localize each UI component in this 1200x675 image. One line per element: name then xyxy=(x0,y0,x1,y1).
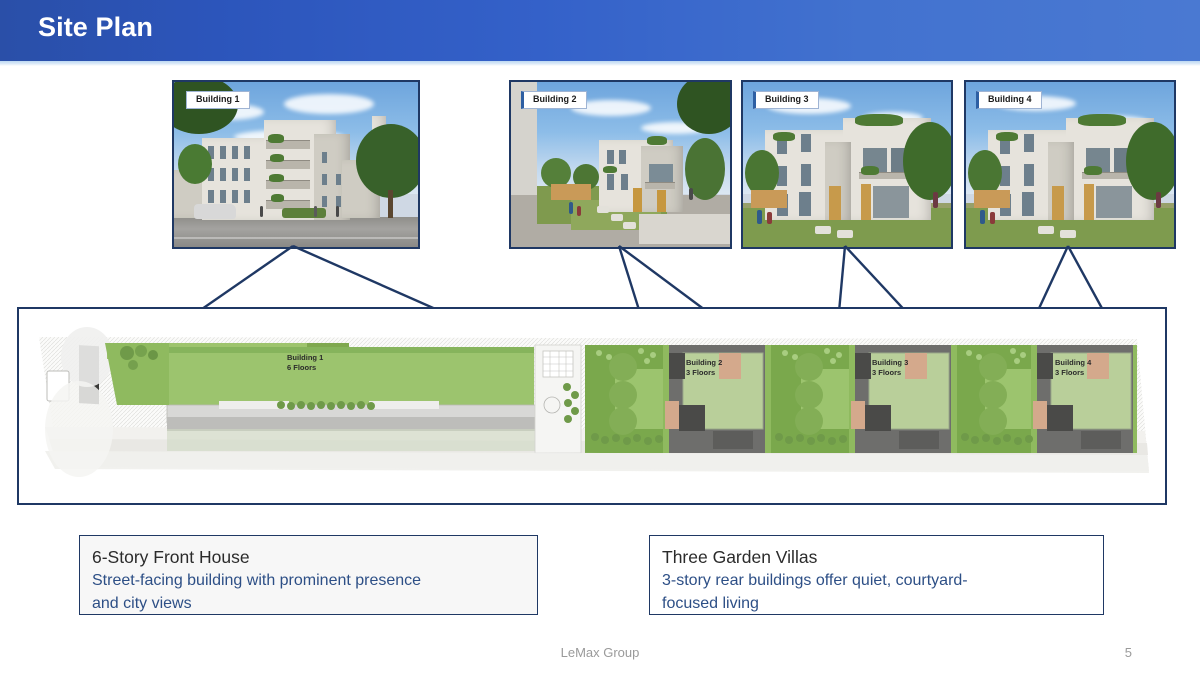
stepping-stone xyxy=(1038,226,1054,234)
thumbnail-label-building-3: Building 3 xyxy=(753,91,819,109)
plan-tree xyxy=(979,407,1007,435)
window xyxy=(232,146,238,159)
villa-4-terrace xyxy=(1033,401,1047,429)
plan-label-name: Building 1 xyxy=(287,353,323,362)
villa-2-shaft xyxy=(669,353,685,379)
thumbnail-label-building-1: Building 1 xyxy=(186,91,250,109)
thumbnail-label-building-4: Building 4 xyxy=(976,91,1042,109)
slide-header-bar xyxy=(0,0,1200,61)
plan-label-building-4: Building 4 3 Floors xyxy=(1055,358,1091,377)
plan-tree xyxy=(795,407,823,435)
plan-tree xyxy=(795,381,823,409)
plan-label-building-1: Building 1 6 Floors xyxy=(287,353,323,372)
plan-tree xyxy=(120,346,134,360)
entrance-door xyxy=(1084,184,1094,220)
balcony-plant xyxy=(861,166,879,175)
window xyxy=(873,186,909,218)
plan-label-name: Building 4 xyxy=(1055,358,1091,367)
thumbnail-building-2[interactable]: Building 2 xyxy=(509,80,732,249)
tree-trunk xyxy=(388,190,393,218)
villa-2-base xyxy=(713,431,753,449)
entrance-door xyxy=(861,184,871,220)
parked-car xyxy=(194,204,236,219)
window xyxy=(801,134,811,152)
street xyxy=(174,217,418,247)
entrance-door xyxy=(829,186,841,220)
plan-tree xyxy=(609,381,637,409)
stepping-stone xyxy=(611,214,623,221)
entrance-door xyxy=(1052,186,1064,220)
pedestrian xyxy=(260,206,263,217)
plan-label-floors: 3 Floors xyxy=(1055,368,1084,377)
window xyxy=(322,174,327,185)
walkway xyxy=(639,214,730,244)
site-plan-drawing xyxy=(19,309,1161,499)
plan-label-floors: 6 Floors xyxy=(287,363,316,372)
villa-3-terrace xyxy=(851,401,865,429)
window xyxy=(621,174,628,190)
villa-3-terrace xyxy=(905,353,927,379)
window xyxy=(322,152,327,163)
stepping-stone xyxy=(597,206,609,213)
stepping-stone xyxy=(1060,230,1076,238)
playground-structure xyxy=(751,190,787,208)
caption-body-line-2: and city views xyxy=(92,592,525,615)
balcony-plant xyxy=(268,134,284,143)
pedestrian xyxy=(990,212,995,224)
balcony xyxy=(645,182,675,189)
plan-label-building-3: Building 3 3 Floors xyxy=(872,358,908,377)
balcony-plant xyxy=(996,132,1018,141)
plan-label-floors: 3 Floors xyxy=(686,368,715,377)
cloud xyxy=(284,94,374,114)
caption-title: Three Garden Villas xyxy=(662,545,1091,569)
tree-canopy xyxy=(1126,122,1174,200)
window xyxy=(1024,134,1034,152)
window xyxy=(208,190,214,203)
window xyxy=(322,196,327,207)
stepping-stone xyxy=(623,222,636,229)
villa-4-base xyxy=(1081,431,1121,449)
balcony-plant xyxy=(270,154,284,162)
villa-2-terrace xyxy=(665,401,679,429)
villa-2-terrace xyxy=(719,353,741,379)
balcony-plant xyxy=(603,166,617,173)
villa-3-shaft xyxy=(855,353,871,379)
caption-body-line-1: 3-story rear buildings offer quiet, cour… xyxy=(662,569,1091,592)
shrub-row xyxy=(282,208,326,218)
existing-tree-shadow xyxy=(45,381,113,477)
window xyxy=(220,146,226,159)
balcony-plant xyxy=(269,174,284,182)
pedestrian xyxy=(569,202,573,214)
plan-label-building-2: Building 2 3 Floors xyxy=(686,358,722,377)
entrance-door xyxy=(657,190,666,212)
balcony-plant xyxy=(1084,166,1102,175)
pedestrian xyxy=(689,188,693,200)
pedestrian xyxy=(757,210,762,224)
plan-tree xyxy=(128,360,138,370)
roof-terrace-plant xyxy=(855,114,903,126)
window xyxy=(649,164,673,184)
roof-terrace-plant xyxy=(1078,114,1126,126)
plan-tree xyxy=(979,381,1007,409)
lawn-south xyxy=(167,429,537,451)
villa-4-shaft xyxy=(1037,353,1053,379)
caption-body-line-2: focused living xyxy=(662,592,1091,615)
window xyxy=(801,164,811,186)
entry-canopy xyxy=(369,401,439,409)
villa-4-shaft xyxy=(1047,405,1073,431)
plan-tree xyxy=(148,350,158,360)
villa-3-base xyxy=(899,431,939,449)
thumbnail-label-building-2: Building 2 xyxy=(521,91,587,109)
playground-structure xyxy=(974,190,1010,208)
plan-tree xyxy=(979,353,1007,381)
window xyxy=(607,174,614,190)
stepping-stone xyxy=(815,226,831,234)
pedestrian xyxy=(577,206,581,216)
playground-structure xyxy=(551,184,591,200)
window xyxy=(244,190,250,203)
villa-2-shaft xyxy=(679,405,705,431)
page-title: Site Plan xyxy=(38,12,153,43)
plan-label-floors: 3 Floors xyxy=(872,368,901,377)
plan-label-name: Building 2 xyxy=(686,358,722,367)
pedestrian xyxy=(314,206,317,217)
window xyxy=(232,168,238,181)
tree-canopy xyxy=(178,144,212,184)
stepping-stone xyxy=(837,230,853,238)
balcony-plant xyxy=(773,132,795,141)
window xyxy=(220,190,226,203)
pedestrian xyxy=(933,192,938,208)
header-underline xyxy=(0,61,1200,66)
roof-edge xyxy=(169,347,534,353)
window xyxy=(232,190,238,203)
window xyxy=(1024,164,1034,186)
balcony-plant xyxy=(271,194,284,202)
pedestrian xyxy=(1156,192,1161,208)
pedestrian xyxy=(336,206,339,217)
tree-canopy xyxy=(903,122,951,200)
tree-canopy xyxy=(356,124,418,198)
plan-label-name: Building 3 xyxy=(872,358,908,367)
caption-title: 6-Story Front House xyxy=(92,545,525,569)
villa-3-shaft xyxy=(865,405,891,431)
window xyxy=(220,168,226,181)
window xyxy=(244,146,250,159)
road-marking xyxy=(174,237,418,239)
plan-tree xyxy=(609,407,637,435)
window xyxy=(244,168,250,181)
window xyxy=(607,150,614,164)
footer-page-number: 5 xyxy=(1125,645,1132,660)
caption-front-house[interactable]: 6-Story Front House Street-facing buildi… xyxy=(79,535,538,615)
window xyxy=(1096,186,1132,218)
window xyxy=(799,192,811,216)
pedestrian xyxy=(980,210,985,224)
pedestrian xyxy=(767,212,772,224)
thumbnail-building-4[interactable]: Building 4 xyxy=(964,80,1176,249)
plan-tree xyxy=(795,353,823,381)
entrance-door xyxy=(633,188,642,212)
window xyxy=(1022,192,1034,216)
site-plan-container[interactable]: Building 1 6 Floors Building 2 3 Floors … xyxy=(17,307,1167,505)
caption-garden-villas[interactable]: Three Garden Villas 3-story rear buildin… xyxy=(649,535,1104,615)
building-1-base xyxy=(167,417,537,431)
window xyxy=(619,150,626,164)
thumbnail-building-1[interactable]: Building 1 xyxy=(172,80,420,249)
thumbnail-building-3[interactable]: Building 3 xyxy=(741,80,953,249)
window xyxy=(336,174,341,185)
roof-terrace-plant xyxy=(647,136,667,145)
caption-body-line-1: Street-facing building with prominent pr… xyxy=(92,569,525,592)
footer-brand: LeMax Group xyxy=(0,645,1200,660)
plan-tree xyxy=(609,353,637,381)
plan-tree xyxy=(135,345,147,357)
